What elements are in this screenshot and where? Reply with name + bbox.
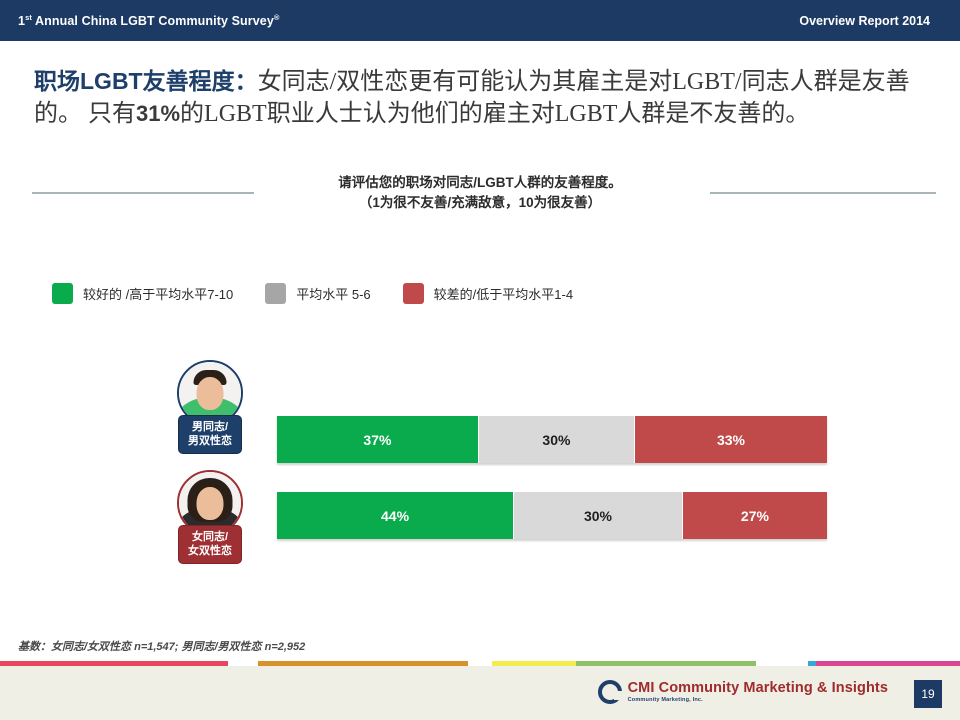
- female-avatar-group: 女同志/ 女双性恋: [160, 470, 260, 564]
- female-face: [197, 487, 224, 520]
- female-avatar-label: 女同志/ 女双性恋: [178, 525, 242, 564]
- male-avatar-label: 男同志/ 男双性恋: [178, 415, 242, 454]
- bar-male: 37% 30% 33%: [277, 416, 827, 463]
- male-avatar-group: 男同志/ 男双性恋: [160, 360, 260, 454]
- base-footnote: 基数：女同志/女双性恋 n=1,547; 男同志/男双性恋 n=2,952: [18, 638, 305, 654]
- stacked-bar-chart: 男同志/ 男双性恋 女同志/ 女双性恋 37% 30% 3: [0, 0, 960, 720]
- slide: 1st Annual China LGBT Community Survey® …: [0, 0, 960, 720]
- bar-male-segment-poor: 33%: [635, 416, 827, 463]
- cmi-logo-text: CMI Community Marketing & Insights Commu…: [628, 681, 888, 703]
- bar-male-segment-good: 37%: [277, 416, 479, 463]
- cmi-logo-subtitle: Community Marketing, Inc.: [628, 698, 888, 704]
- bar-female-segment-good: 44%: [277, 492, 514, 539]
- cmi-logo-mark-icon: [598, 680, 622, 704]
- page-number: 19: [914, 680, 942, 708]
- cmi-logo-title: CMI Community Marketing & Insights: [628, 681, 888, 696]
- cmi-logo: CMI Community Marketing & Insights Commu…: [598, 680, 888, 704]
- bar-male-segment-average: 30%: [479, 416, 635, 463]
- slide-footer: CMI Community Marketing & Insights Commu…: [0, 666, 960, 720]
- male-face: [197, 377, 224, 410]
- bar-female-segment-average: 30%: [514, 492, 683, 539]
- bar-female: 44% 30% 27%: [277, 492, 827, 539]
- bar-female-segment-poor: 27%: [683, 492, 827, 539]
